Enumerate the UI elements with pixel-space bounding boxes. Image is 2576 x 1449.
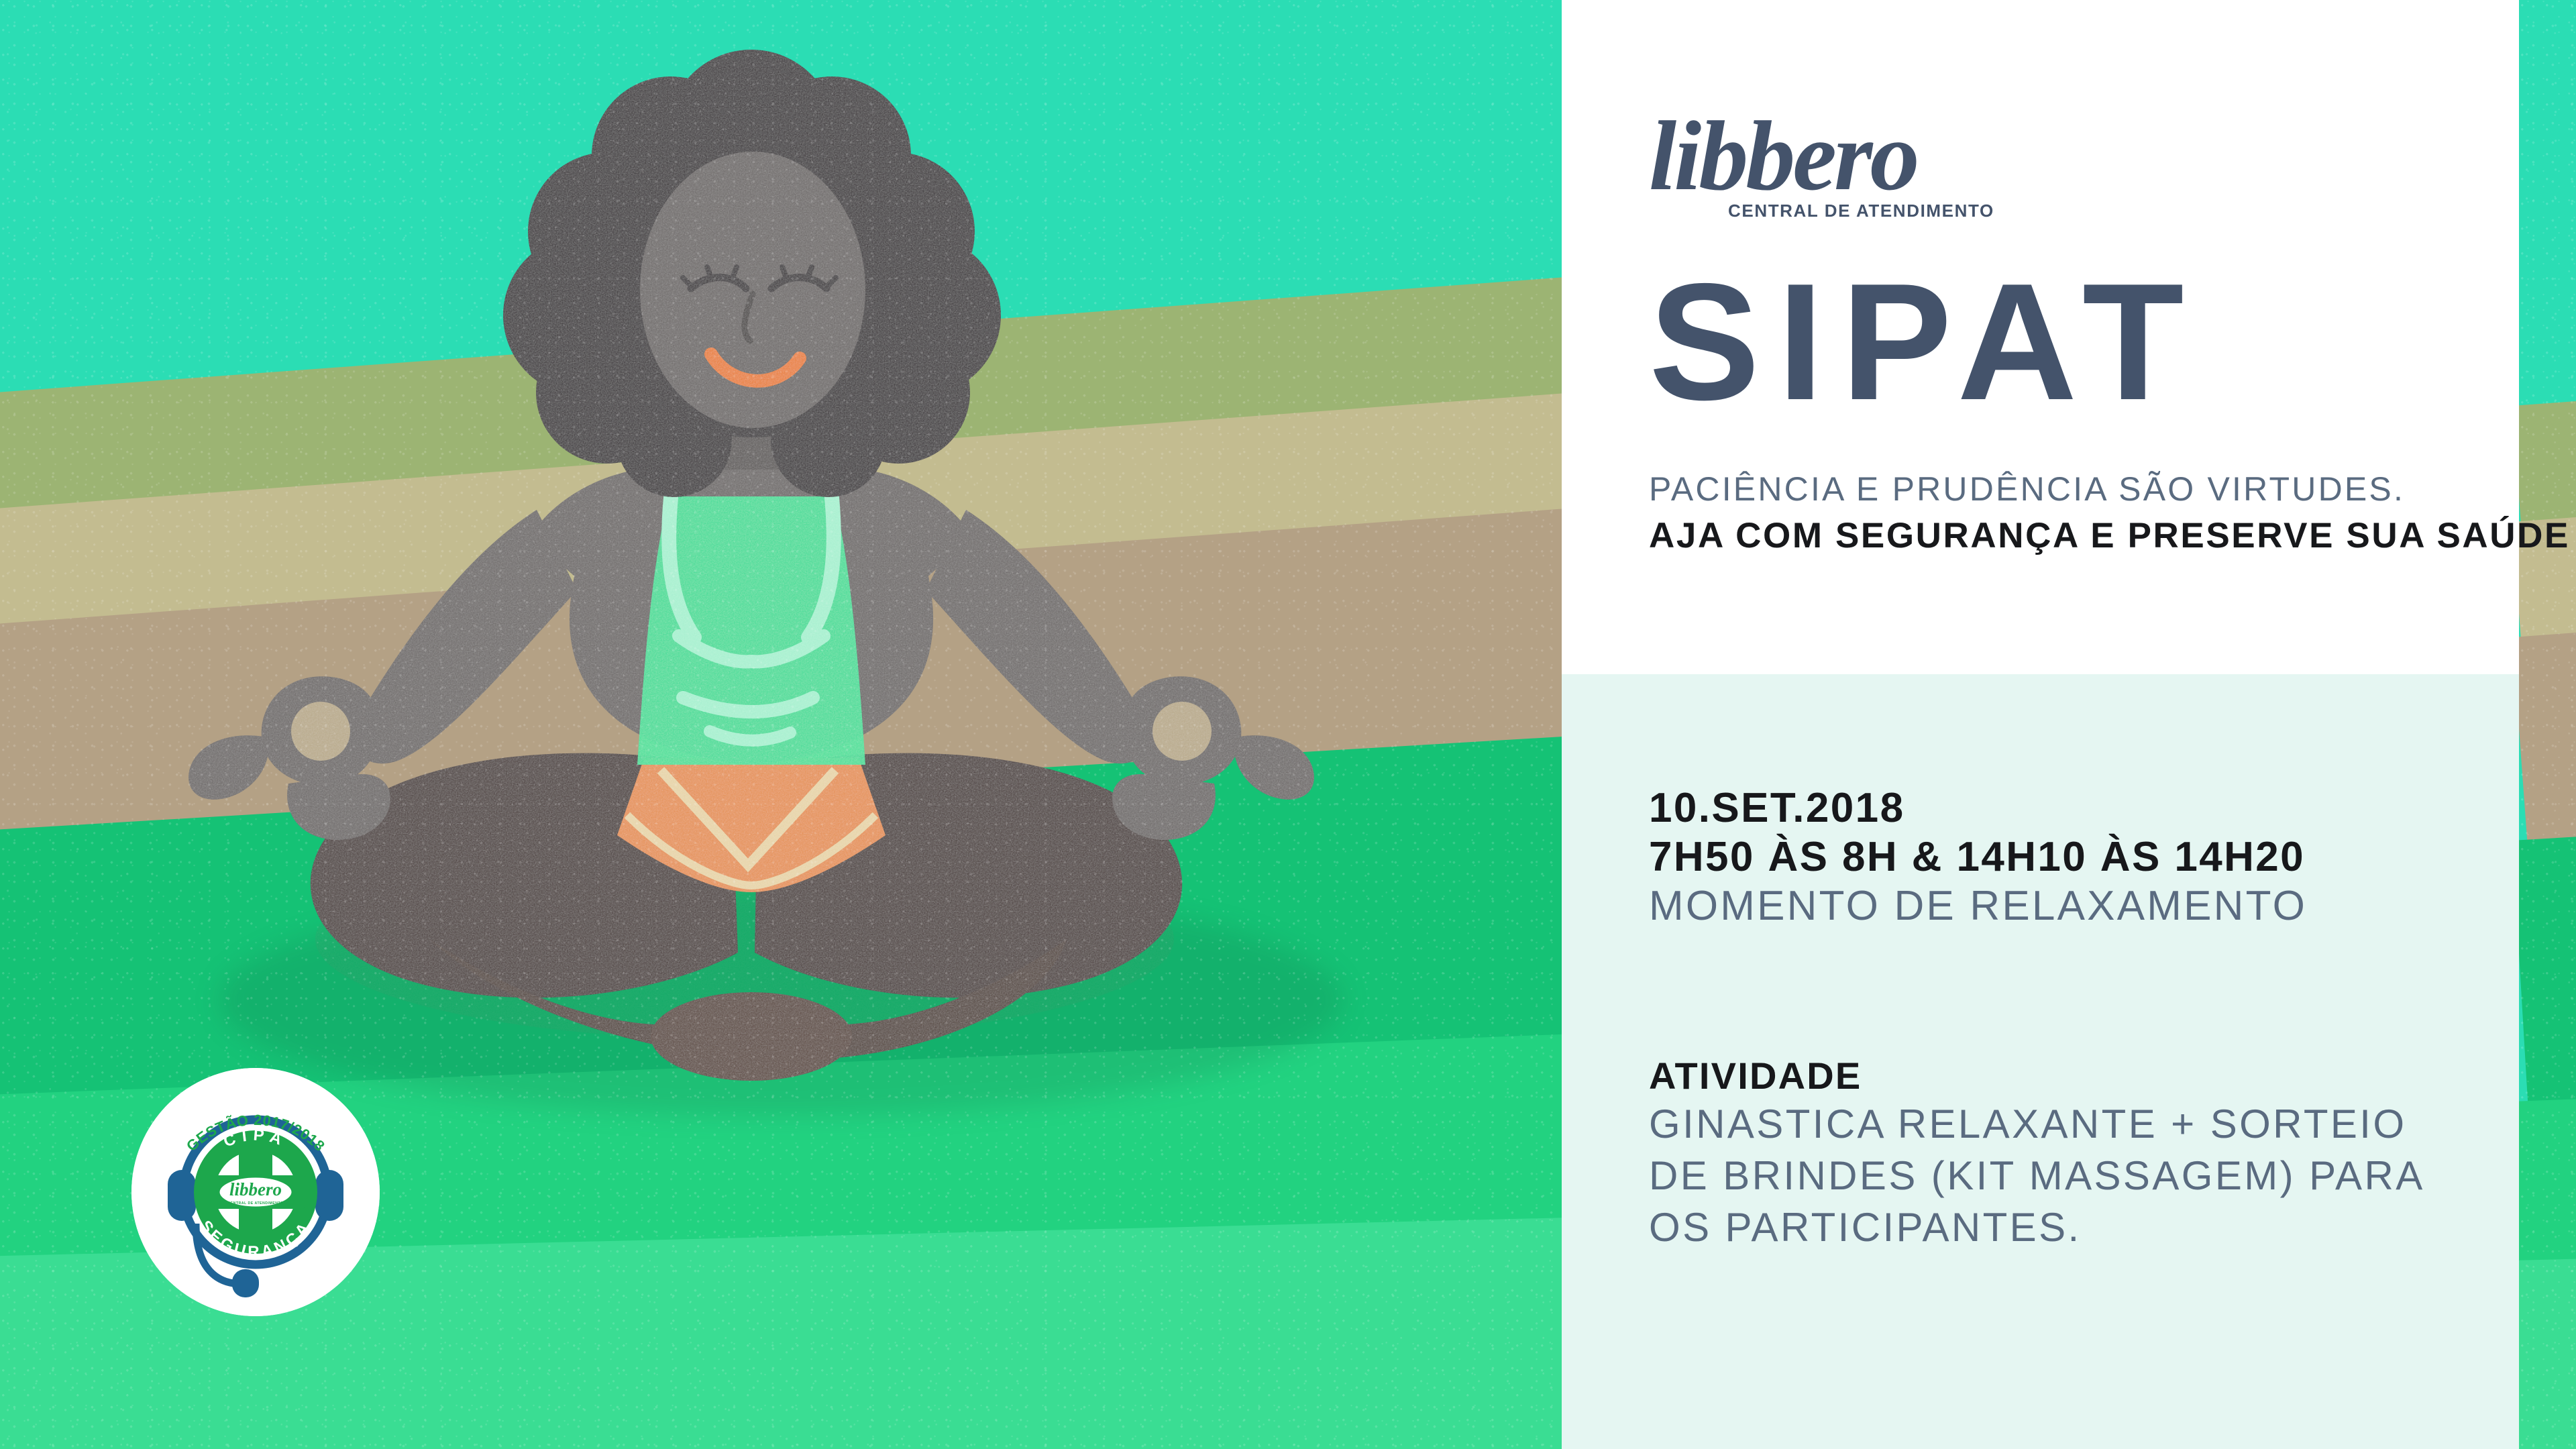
cipa-badge-graphic: libbero CENTRAL DE ATENDIMENTO GESTÃO 20… <box>131 1068 380 1316</box>
page-title: SIPAT <box>1649 265 2492 418</box>
sliver-band-sky <box>2519 0 2576 435</box>
logo-subtitle: CENTRAL DE ATENDIMENTO <box>1728 201 2492 221</box>
illustration-panel: libbero CENTRAL DE ATENDIMENTO GESTÃO 20… <box>0 0 1562 1449</box>
libbero-logo: libbero CENTRAL DE ATENDIMENTO <box>1649 114 2492 221</box>
activity-line-2: DE BRINDES (KIT MASSAGEM) PARA <box>1649 1150 2492 1202</box>
logo-wordmark: libbero <box>1649 114 2492 199</box>
sipat-poster: libbero CENTRAL DE ATENDIMENTO GESTÃO 20… <box>0 0 2576 1449</box>
activity-block: ATIVIDADE GINASTICA RELAXANTE + SORTEIO … <box>1649 1053 2492 1254</box>
content-panel: libbero CENTRAL DE ATENDIMENTO SIPAT PAC… <box>1562 0 2519 1449</box>
schedule-block: 10.SET.2018 7H50 ÀS 8H & 14H10 ÀS 14H20 … <box>1649 784 2492 930</box>
badge-center-word: libbero <box>229 1179 282 1199</box>
activity-heading: ATIVIDADE <box>1649 1053 2492 1099</box>
activity-line-3: OS PARTICIPANTES. <box>1649 1202 2492 1254</box>
schedule-session: MOMENTO DE RELAXAMENTO <box>1649 881 2492 930</box>
cipa-badge: libbero CENTRAL DE ATENDIMENTO GESTÃO 20… <box>131 1068 380 1316</box>
activity-line-1: GINASTICA RELAXANTE + SORTEIO <box>1649 1099 2492 1150</box>
schedule-time: 7H50 ÀS 8H & 14H10 ÀS 14H20 <box>1649 833 2492 881</box>
tagline-line-1: PACIÊNCIA E PRUDÊNCIA SÃO VIRTUDES. <box>1649 470 2492 508</box>
badge-center-sub: CENTRAL DE ATENDIMENTO <box>227 1201 283 1205</box>
tagline-line-2: AJA COM SEGURANÇA E PRESERVE SUA SAÚDE <box>1649 515 2492 556</box>
sliver-band-green3 <box>2519 1258 2576 1449</box>
schedule-date: 10.SET.2018 <box>1649 784 2492 833</box>
illustration-right-sliver <box>2519 0 2576 1449</box>
